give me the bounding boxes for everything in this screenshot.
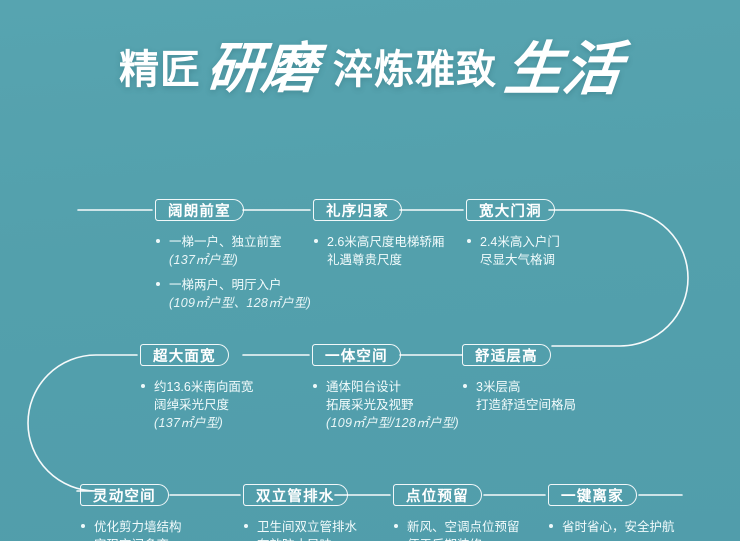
card-bullet-list: 约13.6米南向面宽 阔绰采光尺度 (137㎡户型)	[140, 378, 253, 432]
bullet-line: 卫生间双立管排水	[257, 518, 357, 536]
list-item: 省时省心，安全护航	[548, 518, 675, 536]
card-title-badge: 超大面宽	[140, 344, 229, 366]
card-title-badge: 点位预留	[393, 484, 482, 506]
poster-canvas: 精匠研磨淬炼雅致生活 阔朗前室	[0, 0, 740, 541]
headline-segment-2: 研磨	[205, 40, 320, 95]
card-bullet-list: 通体阳台设计 拓展采光及视野 (109㎡户型/128㎡户型)	[312, 378, 459, 432]
bullet-dot-icon	[463, 384, 467, 388]
bullet-line: 省时省心，安全护航	[562, 518, 675, 536]
feature-card-lingdongkongjian[interactable]: 灵动空间 优化剪力墙结构 实现空间多变	[80, 484, 182, 541]
list-item: 一梯两户、明厅入户 (109㎡户型、128㎡户型)	[155, 276, 311, 312]
card-bullet-list: 3米层高 打造舒适空间格局	[462, 378, 576, 414]
feature-card-shuangliguanpaishui[interactable]: 双立管排水 卫生间双立管排水 有效防止异味	[243, 484, 357, 541]
bullet-dot-icon	[314, 239, 318, 243]
bullet-line: 新风、空调点位预留	[407, 518, 520, 536]
card-title-badge: 灵动空间	[80, 484, 169, 506]
card-bullet-list: 卫生间双立管排水 有效防止异味	[243, 518, 357, 541]
bullet-line: 3米层高	[476, 378, 576, 396]
feature-card-yijianlijia[interactable]: 一键离家 省时省心，安全护航	[548, 484, 675, 541]
bullet-subline: 尽显大气格调	[480, 251, 560, 269]
bullet-dot-icon	[467, 239, 471, 243]
bullet-dot-icon	[141, 384, 145, 388]
bullet-subline: 实现空间多变	[94, 536, 182, 541]
feature-card-shushicenggao[interactable]: 舒适层高 3米层高 打造舒适空间格局	[462, 344, 576, 421]
card-bullet-list: 2.6米高尺度电梯轿厢 礼遇尊贵尺度	[313, 233, 444, 269]
list-item: 约13.6米南向面宽 阔绰采光尺度 (137㎡户型)	[140, 378, 253, 432]
bullet-line: 约13.6米南向面宽	[154, 378, 253, 396]
card-title-badge: 双立管排水	[243, 484, 348, 506]
bullet-line: 一梯一户、独立前室	[169, 233, 311, 251]
bullet-subline: 阔绰采光尺度	[154, 396, 253, 414]
bullet-line: 优化剪力墙结构	[94, 518, 182, 536]
list-item: 优化剪力墙结构 实现空间多变	[80, 518, 182, 541]
feature-card-kuandamendong[interactable]: 宽大门洞 2.4米高入户门 尽显大气格调	[466, 199, 560, 276]
card-title-badge: 舒适层高	[462, 344, 551, 366]
list-item: 一梯一户、独立前室 (137㎡户型)	[155, 233, 311, 269]
bullet-dot-icon	[156, 282, 160, 286]
bullet-line: 2.4米高入户门	[480, 233, 560, 251]
card-bullet-list: 省时省心，安全护航	[548, 518, 675, 536]
connector-uturn-right	[549, 210, 688, 346]
card-bullet-list: 2.4米高入户门 尽显大气格调	[466, 233, 560, 269]
bullet-subline-2: (109㎡户型/128㎡户型)	[326, 414, 459, 432]
bullet-dot-icon	[244, 524, 248, 528]
card-title-badge: 一体空间	[312, 344, 401, 366]
bullet-subline: 有效防止异味	[257, 536, 357, 541]
bullet-subline: 打造舒适空间格局	[476, 396, 576, 414]
list-item: 新风、空调点位预留 便于后期装修	[393, 518, 520, 541]
card-bullet-list: 新风、空调点位预留 便于后期装修	[393, 518, 520, 541]
list-item: 3米层高 打造舒适空间格局	[462, 378, 576, 414]
card-title-badge: 一键离家	[548, 484, 637, 506]
bullet-subline: 便于后期装修	[407, 536, 520, 541]
headline-segment-1: 精匠	[119, 50, 201, 90]
bullet-dot-icon	[394, 524, 398, 528]
bullet-subline: (137㎡户型)	[169, 251, 311, 269]
bullet-dot-icon	[549, 524, 553, 528]
card-title-badge: 礼序归家	[313, 199, 402, 221]
list-item: 2.4米高入户门 尽显大气格调	[466, 233, 560, 269]
feature-card-lixuguijia[interactable]: 礼序归家 2.6米高尺度电梯轿厢 礼遇尊贵尺度	[313, 199, 444, 276]
bullet-subline: (109㎡户型、128㎡户型)	[169, 294, 311, 312]
bullet-dot-icon	[156, 239, 160, 243]
feature-card-chaodamiankuan[interactable]: 超大面宽 约13.6米南向面宽 阔绰采光尺度 (137㎡户型)	[140, 344, 253, 439]
bullet-subline: 拓展采光及视野	[326, 396, 459, 414]
card-bullet-list: 一梯一户、独立前室 (137㎡户型) 一梯两户、明厅入户 (109㎡户型、128…	[155, 233, 311, 312]
card-title-badge: 宽大门洞	[466, 199, 555, 221]
bullet-line: 2.6米高尺度电梯轿厢	[327, 233, 444, 251]
bullet-line: 通体阳台设计	[326, 378, 459, 396]
feature-card-yitikongjian[interactable]: 一体空间 通体阳台设计 拓展采光及视野 (109㎡户型/128㎡户型)	[312, 344, 459, 439]
bullet-dot-icon	[313, 384, 317, 388]
list-item: 2.6米高尺度电梯轿厢 礼遇尊贵尺度	[313, 233, 444, 269]
card-bullet-list: 优化剪力墙结构 实现空间多变	[80, 518, 182, 541]
card-title-badge: 阔朗前室	[155, 199, 244, 221]
bullet-dot-icon	[81, 524, 85, 528]
headline-segment-4: 生活	[502, 40, 624, 98]
bullet-subline: 礼遇尊贵尺度	[327, 251, 444, 269]
bullet-subline-2: (137㎡户型)	[154, 414, 253, 432]
headline-segment-3: 淬炼雅致	[333, 50, 497, 90]
list-item: 通体阳台设计 拓展采光及视野 (109㎡户型/128㎡户型)	[312, 378, 459, 432]
page-title: 精匠研磨淬炼雅致生活	[0, 34, 740, 92]
feature-card-dianweiyuliu[interactable]: 点位预留 新风、空调点位预留 便于后期装修	[393, 484, 520, 541]
feature-card-kuolangqianshi[interactable]: 阔朗前室 一梯一户、独立前室 (137㎡户型) 一梯两户、明厅入户 (109㎡户…	[155, 199, 311, 319]
connector-uturn-left	[28, 355, 137, 491]
list-item: 卫生间双立管排水 有效防止异味	[243, 518, 357, 541]
bullet-line: 一梯两户、明厅入户	[169, 276, 311, 294]
